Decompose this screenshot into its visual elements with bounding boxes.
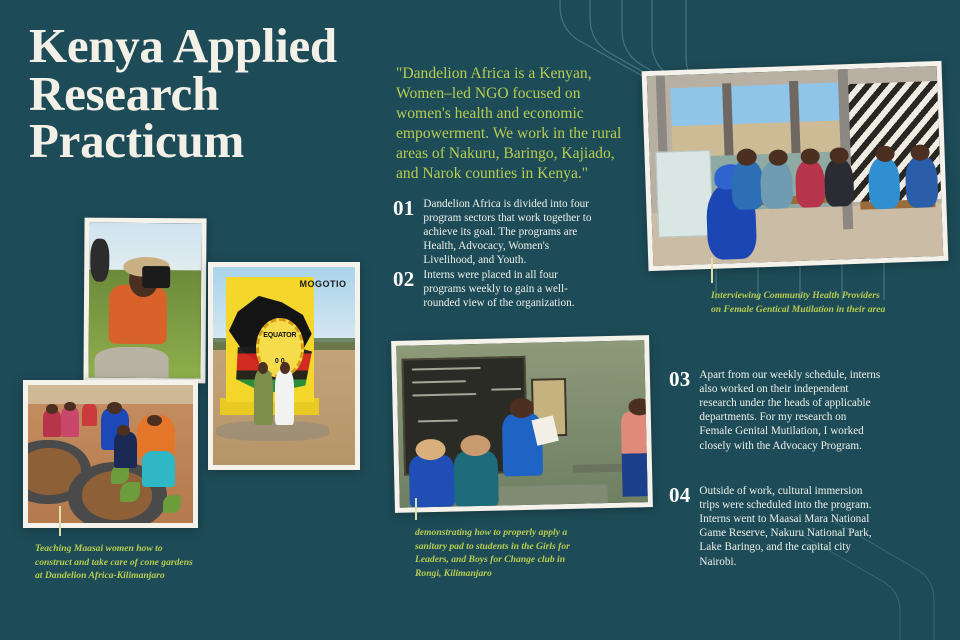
photo-mogotio-content: MOGOTIO EQUATOR 0 0: [213, 267, 355, 465]
sign-equator-label: EQUATOR: [257, 332, 302, 339]
item-text: Outside of work, cultural immersion trip…: [699, 484, 881, 569]
photo-camera-content: [88, 223, 201, 379]
sign-town-label: MOGOTIO: [299, 279, 346, 289]
photo-woman-with-camera: [83, 218, 206, 384]
photo-classroom-content: [396, 340, 648, 508]
numbered-item-02: 02 Interns were placed in all four progr…: [393, 268, 598, 310]
intro-quote: "Dandelion Africa is a Kenyan, Women–led…: [396, 64, 634, 184]
photo-cone-gardens: [23, 380, 198, 528]
item-text: Interns were placed in all four programs…: [423, 268, 598, 310]
page-title: Kenya Applied Research Practicum: [29, 22, 399, 165]
photo-community-meeting: [642, 61, 949, 271]
item-number: 04: [669, 484, 690, 569]
item-text: Dandelion Africa is divided into four pr…: [423, 197, 598, 268]
item-number: 02: [393, 268, 414, 310]
item-text: Apart from our weekly schedule, interns …: [699, 368, 881, 453]
caption-community-meeting: Interviewing Community Health Providers …: [711, 289, 891, 316]
caption-cone-gardens: Teaching Maasai women how to construct a…: [35, 542, 195, 583]
photo-garden-content: [28, 385, 193, 523]
item-number: 01: [393, 197, 414, 268]
numbered-item-03: 03 Apart from our weekly schedule, inter…: [669, 368, 881, 453]
caption-text: Interviewing Community Health Providers …: [711, 290, 885, 315]
numbered-item-04: 04 Outside of work, cultural immersion t…: [669, 484, 881, 569]
caption-tick-mark: [711, 257, 713, 283]
numbered-item-01: 01 Dandelion Africa is divided into four…: [393, 197, 598, 268]
caption-tick-mark: [415, 498, 417, 520]
caption-classroom: demonstrating how to properly apply a sa…: [415, 526, 585, 580]
item-number: 03: [669, 368, 690, 453]
photo-meeting-content: [647, 66, 943, 266]
caption-text: demonstrating how to properly apply a sa…: [415, 527, 570, 579]
poster-canvas: Kenya Applied Research Practicum "Dandel…: [0, 0, 960, 640]
photo-classroom-demonstration: [391, 335, 653, 513]
photo-mogotio-equator-sign: MOGOTIO EQUATOR 0 0: [208, 262, 360, 470]
caption-text: Teaching Maasai women how to construct a…: [35, 543, 193, 581]
caption-tick-mark: [59, 506, 61, 536]
